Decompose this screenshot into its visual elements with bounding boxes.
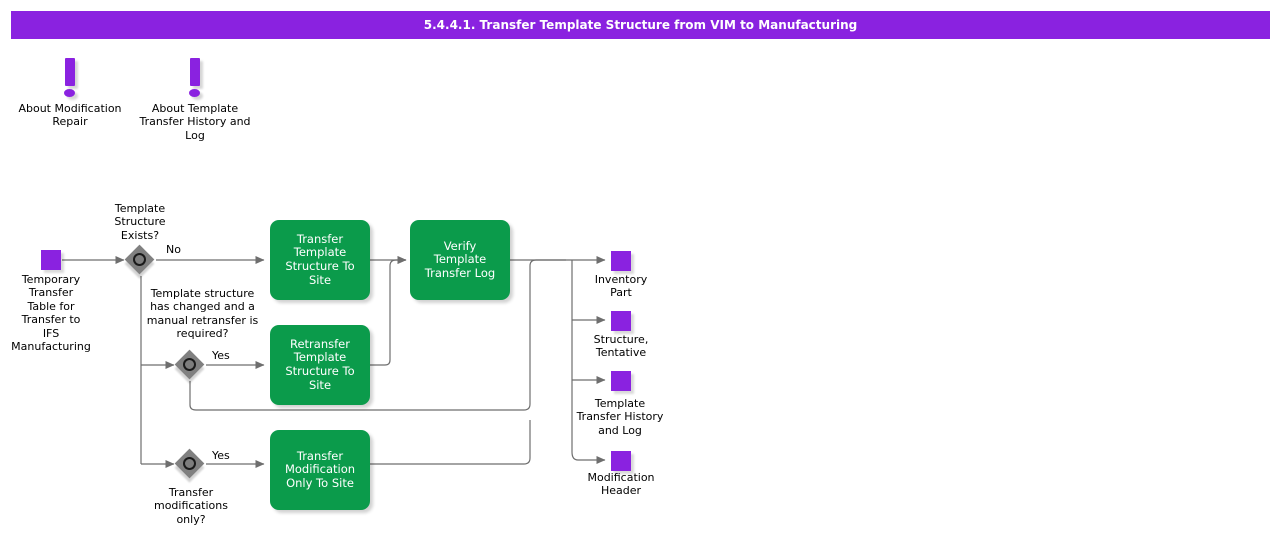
entity-square-icon <box>41 250 61 270</box>
exclamation-icon <box>63 58 77 100</box>
activity-label: Verify Template Transfer Log <box>410 240 510 281</box>
entity-square-icon <box>611 451 631 471</box>
gateway-label-transfer-modifications-only: Transfer modifications only? <box>134 486 248 526</box>
activity-verify-template-transfer-log[interactable]: Verify Template Transfer Log <box>410 220 510 300</box>
gateway-label-template-structure-changed: Template structure has changed and a man… <box>140 287 265 341</box>
edge-label-yes-modification: Yes <box>212 449 230 462</box>
gateway-ring-icon <box>183 358 196 371</box>
entity-square-icon <box>611 371 631 391</box>
info-marker-about-modification-repair[interactable]: About Modification Repair <box>10 58 130 129</box>
entity-label: Inventory Part <box>568 273 674 300</box>
entity-square-icon <box>611 251 631 271</box>
activity-label: Transfer Template Structure To Site <box>279 233 360 287</box>
info-marker-about-template-transfer-history-and-log[interactable]: About Template Transfer History and Log <box>135 58 255 142</box>
entity-label: Template Transfer History and Log <box>556 397 684 437</box>
gateway-ring-icon <box>183 457 196 470</box>
entity-square-icon <box>611 311 631 331</box>
exclamation-icon <box>188 58 202 100</box>
edge-label-yes-retransfer: Yes <box>212 349 230 362</box>
wire-bus-to-modification-header <box>572 452 605 460</box>
entity-label: Structure, Tentative <box>568 333 674 360</box>
gateway-label-template-structure-exists: Template Structure Exists? <box>96 202 184 242</box>
entity-label: Modification Header <box>568 471 674 498</box>
activity-label: Retransfer Template Structure To Site <box>279 338 360 392</box>
activity-label: Transfer Modification Only To Site <box>279 450 361 491</box>
page-title-bar: 5.4.4.1. Transfer Template Structure fro… <box>11 11 1270 39</box>
gateway-template-structure-exists[interactable] <box>125 245 155 275</box>
diagram-canvas: 5.4.4.1. Transfer Template Structure fro… <box>0 0 1280 537</box>
gateway-transfer-modifications-only[interactable] <box>175 449 205 479</box>
activity-transfer-template-structure-to-site[interactable]: Transfer Template Structure To Site <box>270 220 370 300</box>
activity-retransfer-template-structure-to-site[interactable]: Retransfer Template Structure To Site <box>270 325 370 405</box>
entity-label: Temporary Transfer Table for Transfer to… <box>0 273 102 353</box>
info-marker-label: About Template Transfer History and Log <box>135 102 255 142</box>
gateway-ring-icon <box>133 253 146 266</box>
activity-transfer-modification-only-to-site[interactable]: Transfer Modification Only To Site <box>270 430 370 510</box>
edge-label-no: No <box>166 243 181 256</box>
wire-modification-out <box>370 420 530 464</box>
gateway-template-structure-changed[interactable] <box>175 350 205 380</box>
info-marker-label: About Modification Repair <box>10 102 130 129</box>
wire-retransfer-to-verify <box>370 260 406 365</box>
page-title: 5.4.4.1. Transfer Template Structure fro… <box>424 18 857 32</box>
